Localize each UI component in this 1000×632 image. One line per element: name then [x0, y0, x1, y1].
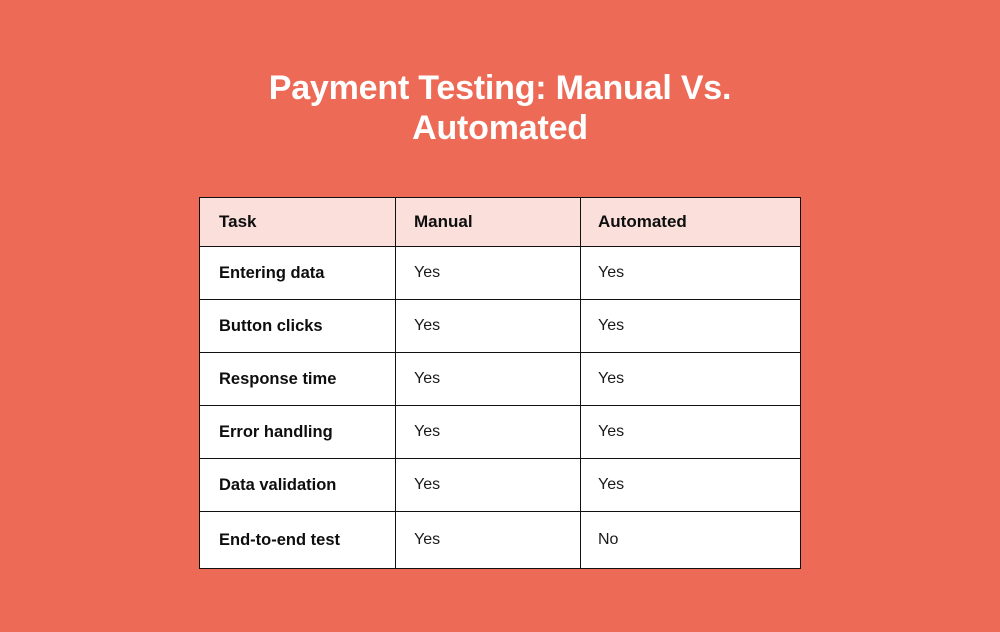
- cell-manual: Yes: [396, 247, 581, 300]
- cell-automated: Yes: [581, 406, 801, 459]
- table-row: Response time Yes Yes: [200, 353, 801, 406]
- table-row: Error handling Yes Yes: [200, 406, 801, 459]
- cell-automated: Yes: [581, 300, 801, 353]
- page-title-line-1: Payment Testing: Manual Vs.: [269, 69, 732, 107]
- cell-task: Response time: [200, 353, 396, 406]
- column-header-automated: Automated: [581, 198, 801, 247]
- table-body: Entering data Yes Yes Button clicks Yes …: [200, 247, 801, 569]
- page-title-line-2: Automated: [412, 109, 588, 147]
- comparison-table: Task Manual Automated Entering data Yes …: [199, 197, 801, 569]
- cell-automated: No: [581, 512, 801, 569]
- poster-canvas: Payment Testing: Manual Vs. Automated Ta…: [0, 0, 1000, 632]
- cell-manual: Yes: [396, 406, 581, 459]
- cell-automated: Yes: [581, 353, 801, 406]
- cell-task: Error handling: [200, 406, 396, 459]
- cell-task: End-to-end test: [200, 512, 396, 569]
- cell-manual: Yes: [396, 300, 581, 353]
- column-header-task: Task: [200, 198, 396, 247]
- table-header-row: Task Manual Automated: [200, 198, 801, 247]
- cell-manual: Yes: [396, 353, 581, 406]
- cell-task: Entering data: [200, 247, 396, 300]
- cell-automated: Yes: [581, 247, 801, 300]
- cell-task: Data validation: [200, 459, 396, 512]
- table-row: Entering data Yes Yes: [200, 247, 801, 300]
- page-title: Payment Testing: Manual Vs. Automated: [0, 68, 1000, 148]
- table-header: Task Manual Automated: [200, 198, 801, 247]
- cell-task: Button clicks: [200, 300, 396, 353]
- comparison-table-container: Task Manual Automated Entering data Yes …: [199, 197, 800, 569]
- cell-manual: Yes: [396, 459, 581, 512]
- column-header-manual: Manual: [396, 198, 581, 247]
- table-row: Data validation Yes Yes: [200, 459, 801, 512]
- table-row: Button clicks Yes Yes: [200, 300, 801, 353]
- cell-manual: Yes: [396, 512, 581, 569]
- cell-automated: Yes: [581, 459, 801, 512]
- table-row: End-to-end test Yes No: [200, 512, 801, 569]
